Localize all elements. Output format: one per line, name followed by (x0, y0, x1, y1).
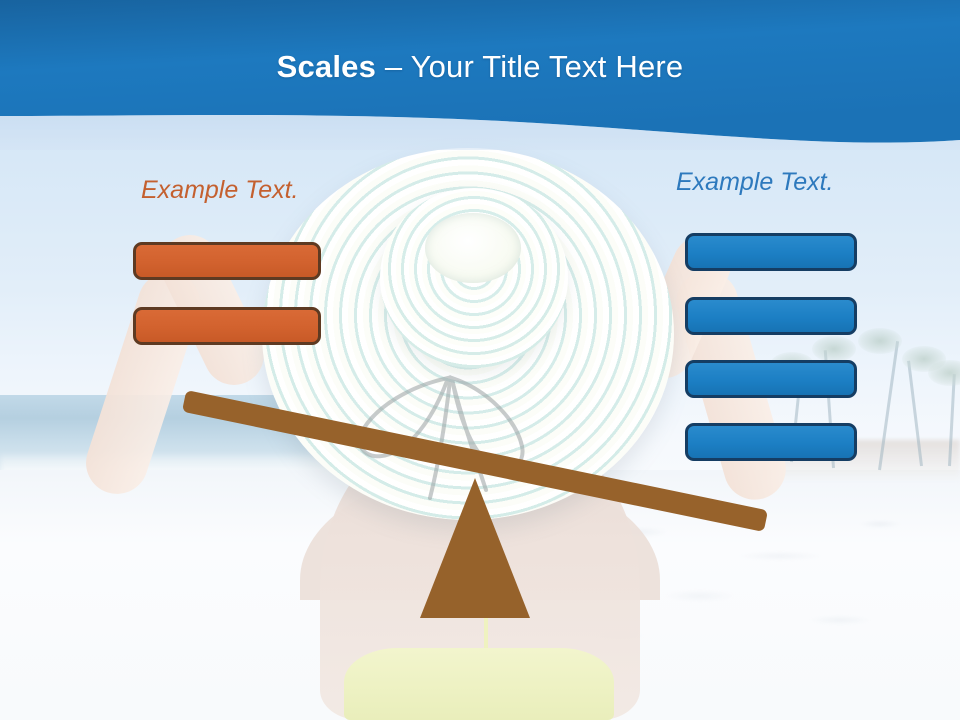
page-title: Scales – Your Title Text Here (0, 50, 960, 84)
header-banner: Scales – Your Title Text Here (0, 0, 960, 150)
right-bar-2[interactable] (685, 297, 857, 335)
page-title-bold: Scales (277, 49, 376, 84)
slide: Scales – Your Title Text Here Example Te… (0, 0, 960, 720)
left-example-text-label: Example Text. (141, 176, 298, 205)
right-bar-4[interactable] (685, 423, 857, 461)
page-title-separator: – (376, 49, 411, 84)
left-bar-1[interactable] (133, 242, 321, 280)
left-bar-2[interactable] (133, 307, 321, 345)
page-title-rest: Your Title Text Here (411, 49, 684, 84)
right-example-text-label: Example Text. (676, 168, 833, 197)
right-bar-1[interactable] (685, 233, 857, 271)
right-bar-3[interactable] (685, 360, 857, 398)
fulcrum-triangle (420, 478, 530, 618)
